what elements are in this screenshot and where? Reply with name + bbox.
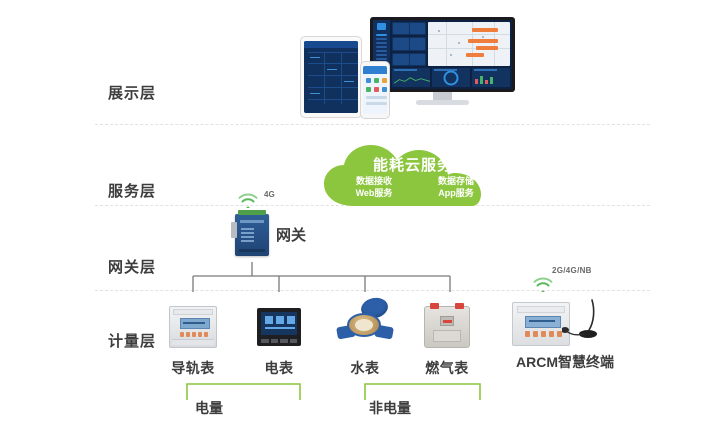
arcm-network-label: 2G/4G/NB <box>552 266 592 275</box>
dashboard-stat-cards <box>392 22 426 66</box>
din-rail-meter-icon <box>150 302 236 354</box>
monitor-stand-neck <box>433 92 452 100</box>
meter-din-rail: 导轨表 <box>150 302 236 378</box>
arcm-terminal-label: ARCM智慧终端 <box>500 352 630 372</box>
arcm-device-icon <box>500 296 630 350</box>
meter-water: 水表 <box>322 298 408 378</box>
architecture-diagram: 展示层 服务层 网关层 计量层 <box>0 0 715 443</box>
monitor-device-icon <box>370 17 515 105</box>
tablet-screen <box>304 41 358 113</box>
meter-electric: 电表 <box>236 302 322 378</box>
meter-gas: 燃气表 <box>404 302 490 378</box>
group-label-electricity: 电量 <box>164 398 254 418</box>
gateway-device-icon <box>235 214 269 256</box>
phone-header-bar <box>363 66 387 74</box>
cloud-item-data-storage: 数据存储 <box>418 176 494 187</box>
dashboard-logo <box>377 23 386 30</box>
dashboard-widgets <box>392 68 510 87</box>
cloud-title: 能耗云服务 <box>318 154 508 175</box>
cloud-service-items: 数据接收 数据存储 Web服务 App服务 <box>336 176 494 199</box>
layer-label-display: 展示层 <box>108 82 198 103</box>
meter-label-din-rail: 导轨表 <box>150 358 236 378</box>
phone-device-icon <box>360 61 390 119</box>
gateway-label: 网关 <box>276 224 306 245</box>
monitor-bezel <box>370 17 515 92</box>
phone-screen <box>363 66 387 114</box>
widget-gauge <box>432 68 470 87</box>
group-label-non-electricity: 非电量 <box>340 398 440 418</box>
wifi-icon <box>532 276 554 292</box>
cloud-item-data-receive: 数据接收 <box>336 176 412 187</box>
monitor-screen <box>373 20 512 89</box>
monitor-stand-base <box>416 100 469 105</box>
gas-meter-icon <box>404 302 490 354</box>
widget-trend-chart <box>392 68 430 87</box>
meter-label-electric: 电表 <box>236 358 322 378</box>
dashboard-body <box>390 20 512 89</box>
meter-label-water: 水表 <box>322 358 408 378</box>
layer-separator-display-service <box>95 124 650 125</box>
dashboard-map-panel <box>428 22 510 66</box>
cloud-item-app-service: App服务 <box>418 188 494 199</box>
gateway-node: 4G 网关 <box>232 188 352 263</box>
wifi-icon <box>237 192 259 208</box>
tablet-header-bar <box>304 41 358 48</box>
meter-label-gas: 燃气表 <box>404 358 490 378</box>
gateway-network-label: 4G <box>264 190 275 199</box>
water-meter-icon <box>322 298 408 354</box>
display-layer-devices <box>300 8 535 120</box>
layer-label-service: 服务层 <box>108 180 198 201</box>
panel-meter-icon <box>236 302 322 354</box>
widget-bar-chart <box>472 68 510 87</box>
connector-tree <box>150 262 510 294</box>
antenna-icon <box>562 296 608 346</box>
tablet-device-icon <box>300 36 362 118</box>
